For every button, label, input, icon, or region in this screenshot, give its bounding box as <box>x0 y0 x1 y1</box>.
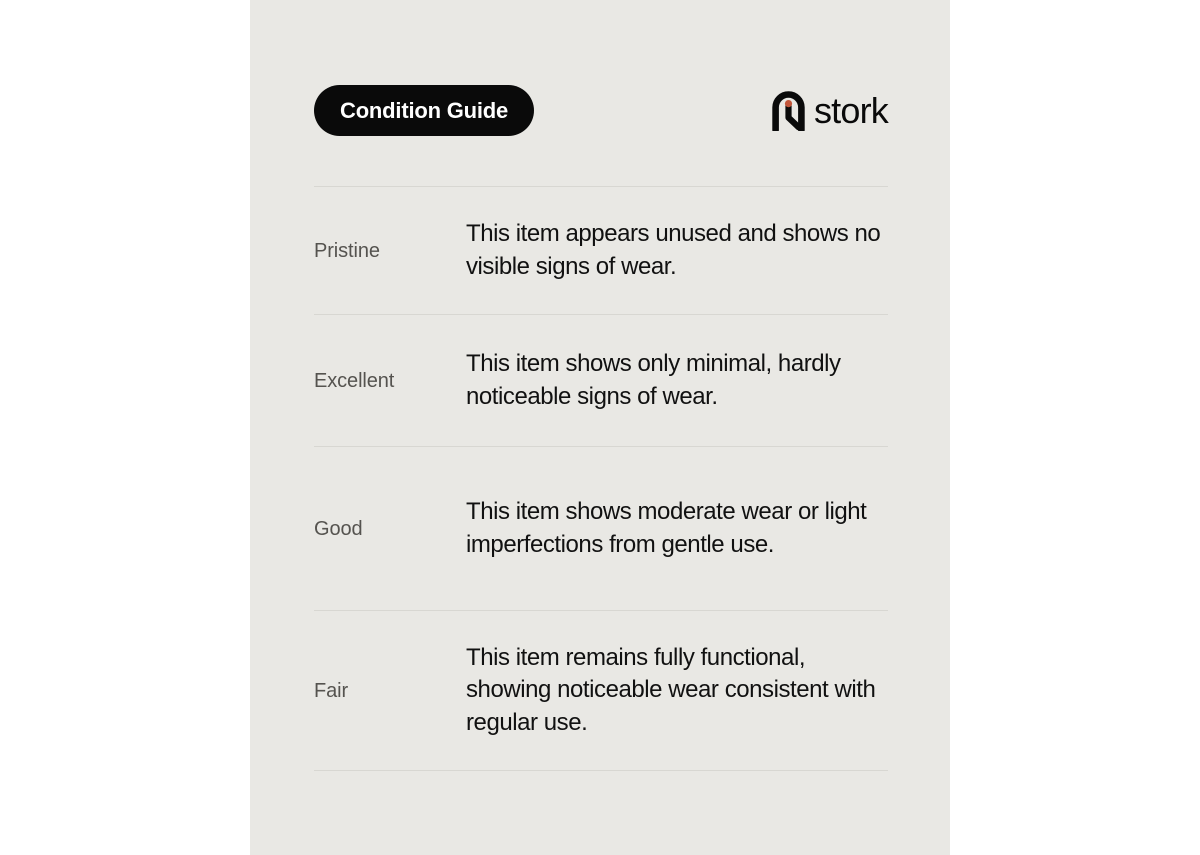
table-row: Good This item shows moderate wear or li… <box>314 447 888 610</box>
table-row: Excellent This item shows only minimal, … <box>314 315 888 446</box>
condition-label: Pristine <box>314 239 466 263</box>
condition-label: Good <box>314 517 466 541</box>
condition-description: This item remains fully functional, show… <box>466 624 888 757</box>
screen-root: Condition Guide stork <box>0 0 1200 855</box>
table-row: Fair This item remains fully functional,… <box>314 611 888 770</box>
condition-guide-badge: Condition Guide <box>314 85 534 136</box>
condition-label: Fair <box>314 679 466 703</box>
condition-description: This item appears unused and shows no vi… <box>466 200 888 301</box>
condition-guide-card: Condition Guide stork <box>250 0 950 855</box>
condition-guide-table: Pristine This item appears unused and sh… <box>314 186 888 771</box>
condition-description: This item shows only minimal, hardly not… <box>466 330 888 431</box>
condition-description: This item shows moderate wear or light i… <box>466 478 888 579</box>
table-row: Pristine This item appears unused and sh… <box>314 187 888 314</box>
stork-arch-logo-icon <box>772 91 805 131</box>
condition-label: Excellent <box>314 369 466 393</box>
brand-lockup: stork <box>772 91 888 131</box>
card-header: Condition Guide stork <box>314 85 888 136</box>
brand-wordmark: stork <box>814 93 888 129</box>
row-divider <box>314 770 888 771</box>
